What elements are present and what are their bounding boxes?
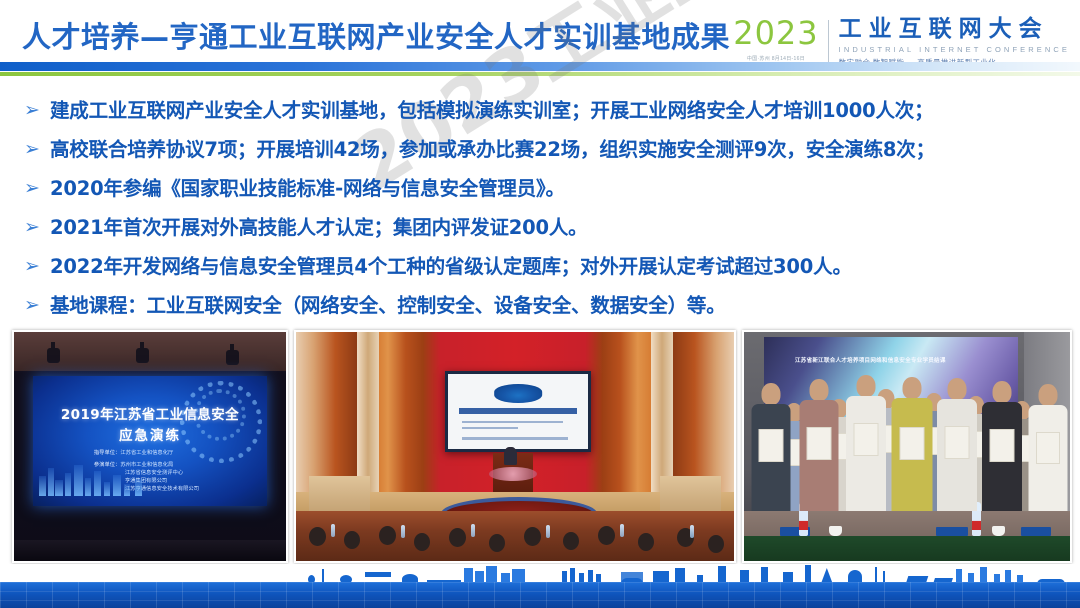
photo-certificate-group: 江苏省新江联合人才培养项目网络和信息安全专业学员结课 xyxy=(742,330,1072,563)
name-card xyxy=(936,527,968,536)
bullet-arrow-icon: ➢ xyxy=(20,174,50,204)
hall-staircase xyxy=(660,476,721,515)
logo-year-subtitle: 中国·苏州 8月14日-16日 xyxy=(747,55,805,62)
name-card xyxy=(1021,527,1051,536)
slide-root: 人才培养—亨通工业互联网产业安全人才实训基地成果 2023 中国·苏州 8月14… xyxy=(0,0,1080,608)
bullet-text: 2020年参编《国家职业技能标准-网络与信息安全管理员》。 xyxy=(50,174,565,204)
hall-speaker-person xyxy=(504,447,517,465)
person-figure xyxy=(936,378,977,511)
person-figure xyxy=(891,377,933,511)
stage-lamp-icon xyxy=(136,348,149,363)
header-divider xyxy=(0,62,1080,78)
photo-conference-hall xyxy=(294,330,736,563)
slide-header: 人才培养—亨通工业互联网产业安全人才实训基地成果 2023 中国·苏州 8月14… xyxy=(0,0,1080,86)
hall-column xyxy=(357,332,379,497)
logo-name-block: 工业互联网大会 INDUSTRIAL INTERNET CONFERENCE 数… xyxy=(829,16,1070,68)
group-led-title: 江苏省新江联合人才培养项目网络和信息安全专业学员结课 xyxy=(779,356,962,364)
hall-audience-seating xyxy=(296,511,734,561)
footer-grid-overlay xyxy=(0,582,1080,608)
stage-lamp-icon xyxy=(47,348,60,363)
bullet-text: 2022年开发网络与信息安全管理员4个工种的省级认定题库；对外开展认定考试超过3… xyxy=(50,252,852,282)
person-figure xyxy=(845,375,886,511)
bullet-arrow-icon: ➢ xyxy=(20,135,50,165)
photo-drill-led-screen: 2019年江苏省工业信息安全 应急演练 指导单位：江苏省工业和信息化厅 参演单位… xyxy=(33,376,267,507)
photo-row: 2019年江苏省工业信息安全 应急演练 指导单位：江苏省工业和信息化厅 参演单位… xyxy=(0,330,1080,565)
page-title: 人才培养—亨通工业互联网产业安全人才实训基地成果 xyxy=(22,14,730,56)
photo-drill-caption-line2: 应急演练 xyxy=(33,424,267,444)
list-item: ➢ 建成工业互联网产业安全人才实训基地，包括模拟演练实训室；开展工业网络安全人才… xyxy=(20,96,1066,126)
hall-staircase xyxy=(309,476,370,515)
bullet-text: 建成工业互联网产业安全人才实训基地，包括模拟演练实训室；开展工业网络安全人才培训… xyxy=(50,96,933,126)
credit-label-1: 指导单位： xyxy=(94,450,121,456)
footer-skyline xyxy=(0,564,1080,608)
list-item: ➢ 基地课程：工业互联网安全（网络安全、控制安全、设备安全、数据安全）等。 xyxy=(20,291,1066,321)
logo-year-block: 2023 中国·苏州 8月14日-16日 xyxy=(733,16,827,62)
logo-year: 2023 xyxy=(733,16,818,50)
photo-drill: 2019年江苏省工业信息安全 应急演练 指导单位：江苏省工业和信息化厅 参演单位… xyxy=(12,330,288,563)
bullet-list: ➢ 建成工业互联网产业安全人才实训基地，包括模拟演练实训室；开展工业网络安全人才… xyxy=(20,96,1066,330)
list-item: ➢ 2022年开发网络与信息安全管理员4个工种的省级认定题库；对外开展认定考试超… xyxy=(20,252,1066,282)
tea-cup xyxy=(992,526,1005,536)
bullet-text: 高校联合培养协议7项；开展培训42场，参加或承办比赛22场，组织实施安全测评9次… xyxy=(50,135,935,165)
bullet-text: 2021年首次开展对外高技能人才认定；集团内评发证200人。 xyxy=(50,213,587,243)
divider-blue-bar xyxy=(0,62,1080,71)
screen-title-bar xyxy=(459,408,577,414)
divider-green-bar xyxy=(0,72,1080,76)
stage-lamp-icon xyxy=(226,350,239,365)
credit-value-1: 江苏省工业和信息化厅 xyxy=(120,450,173,456)
list-item: ➢ 2021年首次开展对外高技能人才认定；集团内评发证200人。 xyxy=(20,213,1066,243)
bullet-text: 基地课程：工业互联网安全（网络安全、控制安全、设备安全、数据安全）等。 xyxy=(50,291,726,321)
hall-flower-arrangement xyxy=(489,467,537,481)
hall-column xyxy=(651,332,673,497)
footer-silhouette-icons xyxy=(0,564,1080,584)
person-figure xyxy=(751,383,791,511)
screen-logo-graphic xyxy=(494,384,542,404)
bullet-arrow-icon: ➢ xyxy=(20,213,50,243)
photo-drill-caption-line1: 2019年江苏省工业信息安全 xyxy=(33,403,267,423)
logo-name-cn: 工业互联网大会 xyxy=(839,16,1070,42)
bullet-arrow-icon: ➢ xyxy=(20,252,50,282)
group-front-table xyxy=(744,536,1070,561)
bullet-arrow-icon: ➢ xyxy=(20,96,50,126)
person-figure xyxy=(1028,384,1068,511)
list-item: ➢ 2020年参编《国家职业技能标准-网络与信息安全管理员》。 xyxy=(20,174,1066,204)
hall-projection-screen xyxy=(445,371,591,453)
person-figure xyxy=(982,381,1023,511)
bullet-arrow-icon: ➢ xyxy=(20,291,50,321)
city-skyline-decoration xyxy=(33,462,178,496)
person-figure xyxy=(799,379,839,511)
logo-name-en: INDUSTRIAL INTERNET CONFERENCE xyxy=(839,45,1070,54)
photo-drill-floor xyxy=(14,540,286,561)
tea-cup xyxy=(829,526,842,536)
list-item: ➢ 高校联合培养协议7项；开展培训42场，参加或承办比赛22场，组织实施安全测评… xyxy=(20,135,1066,165)
